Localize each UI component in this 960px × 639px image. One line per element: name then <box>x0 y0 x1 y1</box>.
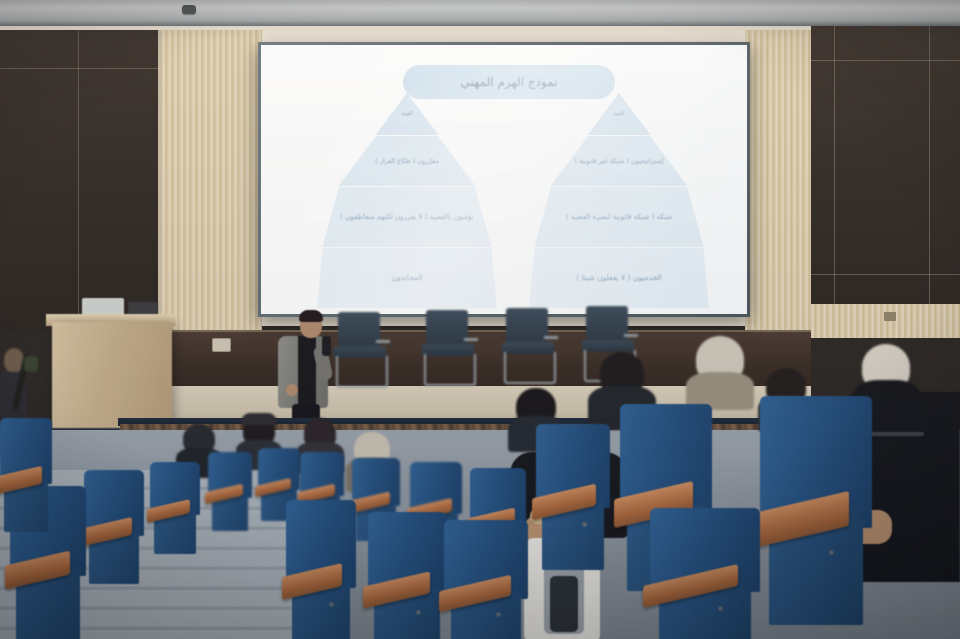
auditorium-seat[interactable] <box>760 396 872 616</box>
wall-dark-panel-left <box>0 30 158 330</box>
right-pyramid-tier-1: القمة <box>529 93 709 135</box>
auditorium-seat-foreground[interactable] <box>650 508 760 639</box>
right-pyramid-tier-2: إستراتيجيون ( شبكة غير قانونية ) <box>529 136 709 186</box>
wall-slat-panel-left <box>162 30 262 332</box>
right-pyramid-tier-1-label: القمة <box>607 111 630 117</box>
left-pyramid-tier-3-label: يؤمنون بالقضية ( لا يقررون لكنهم متعاطفو… <box>334 213 479 222</box>
left-pyramid-tier-4-label: المحايدون <box>386 273 429 282</box>
presenter-shirt <box>298 336 316 410</box>
microphone-icon <box>322 336 331 356</box>
left-pyramid: القمة مقرّرون ( صُنّاع القرار ) يؤمنون ب… <box>317 93 497 308</box>
projection-screen: نموذج الهرم المهني القمة مقرّرون ( صُنّا… <box>258 42 750 317</box>
auditorium-seat[interactable] <box>84 470 144 580</box>
wall-slat-panel-right <box>745 30 811 330</box>
right-pyramid-tier-4-label: الخدميون ( لا يفعلون شيئا ) <box>570 273 667 282</box>
wall-grout-line-left <box>158 30 162 330</box>
audience-member <box>452 412 478 440</box>
presenter-hand <box>286 384 298 396</box>
stage-chair[interactable] <box>500 308 558 382</box>
audience-member <box>404 414 430 442</box>
ceiling-sensor-icon <box>182 5 196 14</box>
left-pyramid-tier-1-label: القمة <box>395 111 418 117</box>
right-pyramid: القمة إستراتيجيون ( شبكة غير قانونية ) ش… <box>529 93 709 308</box>
wall-slat-panel-right-lower <box>811 304 960 338</box>
slide-surface: نموذج الهرم المهني القمة مقرّرون ( صُنّا… <box>261 45 747 314</box>
audience-member-hijab <box>690 336 750 402</box>
wall-socket-stage[interactable] <box>212 338 231 352</box>
auditorium-scene: نموذج الهرم المهني القمة مقرّرون ( صُنّا… <box>0 0 960 639</box>
auditorium-seat-foreground[interactable] <box>368 512 446 639</box>
left-pyramid-tier-1: القمة <box>317 93 497 135</box>
right-pyramid-tier-2-label: إستراتيجيون ( شبكة غير قانونية ) <box>568 157 669 165</box>
right-pyramid-tier-3: شبكة ( شبكة قانونية لنصرة القضية ) <box>529 187 709 247</box>
left-pyramid-tier-4: المحايدون <box>317 248 497 308</box>
auditorium-seat[interactable] <box>208 452 252 528</box>
auditorium-seat[interactable] <box>150 462 200 550</box>
stage-chair[interactable] <box>420 310 478 384</box>
left-pyramid-tier-3: يؤمنون بالقضية ( لا يقررون لكنهم متعاطفو… <box>317 187 497 247</box>
left-pyramid-tier-2-label: مقرّرون ( صُنّاع القرار ) <box>369 157 445 165</box>
presenter-hair <box>299 310 323 322</box>
auditorium-seat-foreground[interactable] <box>286 500 356 639</box>
auditorium-seat-foreground[interactable] <box>444 520 528 639</box>
wall-socket-right[interactable] <box>884 312 896 321</box>
left-pyramid-tier-2: مقرّرون ( صُنّاع القرار ) <box>317 136 497 186</box>
auditorium-seat[interactable] <box>0 418 52 528</box>
slide-title-text: نموذج الهرم المهني <box>461 75 558 89</box>
podium <box>52 322 172 432</box>
wall-dark-panel-right <box>811 26 960 304</box>
ceiling-rail <box>0 22 960 26</box>
right-pyramid-tier-3-label: شبكة ( شبكة قانونية لنصرة القضية ) <box>560 213 678 222</box>
cap-icon <box>241 413 277 425</box>
auditorium-seat[interactable] <box>536 424 610 564</box>
stage-chair[interactable] <box>332 312 390 386</box>
right-pyramid-tier-4: الخدميون ( لا يفعلون شيئا ) <box>529 248 709 308</box>
